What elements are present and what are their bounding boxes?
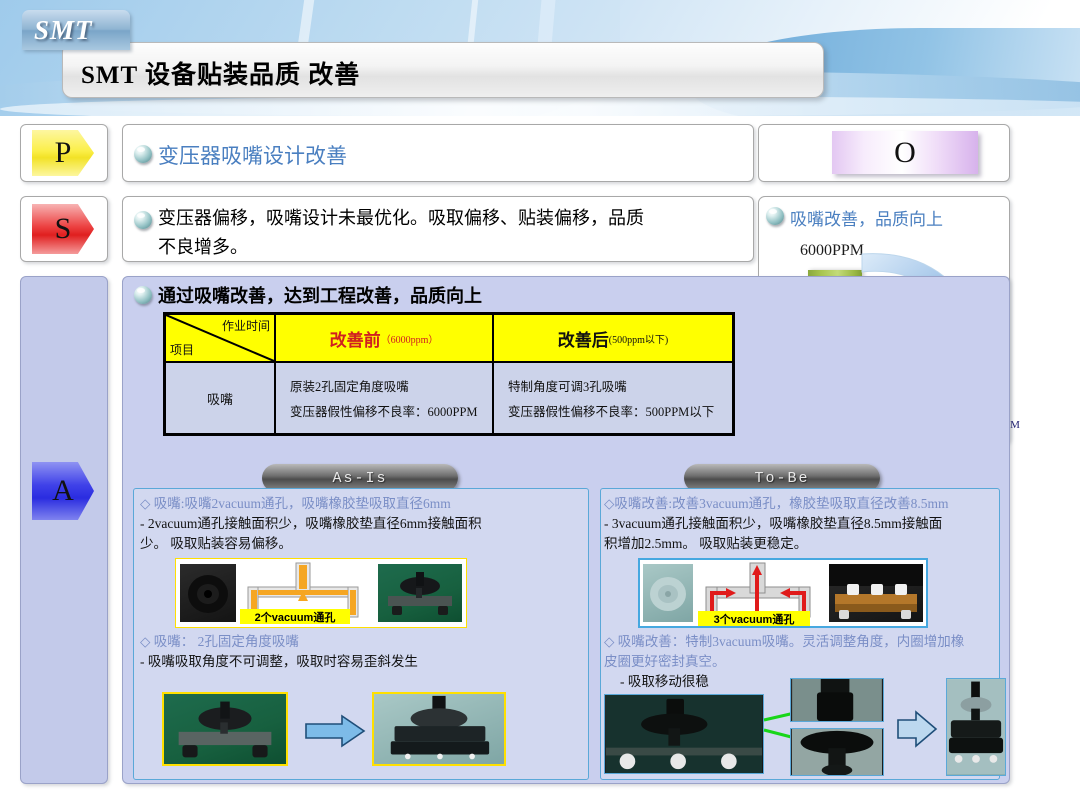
- table-corner-cell: 作业时间 项目: [166, 315, 276, 361]
- transition-arrow-icon: [304, 714, 366, 748]
- as-is-bullet-1-line3: 少。 吸取贴装容易偏移。: [140, 534, 586, 554]
- as-is-figure-strip: 2个vacuum通孔: [175, 558, 467, 628]
- nozzle-assembly-photo-icon: [164, 694, 286, 764]
- table-row-label-cell: 吸嘴: [166, 363, 276, 433]
- table-cell-after-line2: 变压器假性偏移不良率：500PPM以下: [508, 401, 732, 420]
- o-badge-label: O: [894, 136, 916, 170]
- as-is-head-photo: [378, 564, 462, 622]
- smt-corner-tab: SMT: [22, 10, 130, 50]
- marker-label-a: A: [52, 474, 74, 508]
- to-be-vacuum-label: 3个vacuum通孔: [698, 611, 810, 626]
- slide-title-bar: SMT 设备贴装品质 改善: [62, 42, 824, 98]
- nozzle-assembly-alt-photo-icon: [374, 694, 504, 764]
- to-be-feeder-photo: [829, 564, 923, 622]
- table-header-before-sub: （6000ppm）: [381, 331, 439, 346]
- to-be-rubber-pad-photo: [643, 564, 693, 622]
- table-header-before: 改善前 （6000ppm）: [276, 315, 494, 361]
- table-cell-before: 原装2孔固定角度吸嘴 变压器假性偏移不良率：6000PPM: [276, 363, 494, 433]
- to-be-detail-photo-top: [790, 678, 884, 722]
- nozzle-pickup-photo-icon: [605, 695, 763, 773]
- rubber-ring-closeup-icon: [791, 729, 883, 775]
- pickup-head-photo-icon: [378, 564, 462, 622]
- rubber-pad-top-view-icon: [643, 564, 693, 622]
- as-is-bullet-2-line2: - 吸嘴吸取角度不可调整，吸取时容易歪斜发生: [140, 652, 586, 672]
- bullet-sphere-icon: [134, 145, 152, 163]
- problem-line-1: 变压器偏移，吸嘴设计未最优化。吸取偏移、贴装偏移，品质: [158, 204, 742, 233]
- table-cell-before-line2: 变压器假性偏移不良率：6000PPM: [290, 401, 492, 420]
- comparison-table: 作业时间 项目 改善前 （6000ppm） 改善后 (500ppm以下) 吸嘴: [163, 312, 735, 436]
- to-be-pill-label: To-Be: [754, 470, 809, 487]
- nozzle-top-view-icon: [180, 564, 236, 622]
- as-is-bullet-1-line1: ◇ 吸嘴:吸嘴2vacuum通孔，吸嘴橡胶垫吸取直径6mm: [140, 494, 586, 514]
- to-be-bullet-1-line2: - 3vacuum通孔接触面积少，吸嘴橡胶垫直径8.5mm接触面: [604, 514, 998, 534]
- table-cell-before-line1: 原装2孔固定角度吸嘴: [290, 376, 492, 395]
- chart-title: 吸嘴改善，品质向上: [790, 205, 943, 230]
- table-corner-row-label: 项目: [170, 341, 194, 358]
- o-badge: O: [832, 131, 978, 174]
- marker-box-action: [20, 276, 108, 784]
- page-title: SMT 设备贴装品质 改善: [81, 55, 360, 91]
- table-header-after: 改善后 (500ppm以下): [494, 315, 732, 361]
- as-is-vacuum-label: 2个vacuum通孔: [240, 609, 350, 624]
- as-is-nozzle-photo: [180, 564, 236, 622]
- bullet-sphere-icon: [134, 286, 152, 304]
- to-be-bullet-1: ◇吸嘴改善:改善3vacuum通孔，橡胶垫吸取直径改善8.5mm - 3vacu…: [604, 494, 998, 554]
- transition-arrow-icon: [896, 710, 938, 748]
- table-row-label: 吸嘴: [166, 363, 274, 433]
- problem-text: 变压器偏移，吸嘴设计未最优化。吸取偏移、贴装偏移，品质 不良增多。: [158, 204, 742, 262]
- table-header-after-main: 改善后: [558, 326, 609, 351]
- as-is-bullet-2-line1: ◇ 吸嘴： 2孔固定角度吸嘴: [140, 632, 586, 652]
- table-corner-col-label: 作业时间: [222, 317, 270, 334]
- table-header-row: 作业时间 项目 改善前 （6000ppm） 改善后 (500ppm以下): [166, 315, 732, 361]
- as-is-bullet-2: ◇ 吸嘴： 2孔固定角度吸嘴 - 吸嘴吸取角度不可调整，吸取时容易歪斜发生: [140, 632, 586, 672]
- topic-title: 变压器吸嘴设计改善: [158, 140, 347, 170]
- problem-line-2: 不良增多。: [158, 233, 742, 262]
- as-is-pill-label: As-Is: [332, 470, 387, 487]
- table-header-after-sub: (500ppm以下): [609, 331, 668, 346]
- to-be-figure-strip: 3个vacuum通孔: [638, 558, 928, 628]
- feeder-rail-photo-icon: [829, 564, 923, 622]
- to-be-detail-photo-bottom: [790, 728, 884, 776]
- to-be-bullet-1-line1: ◇吸嘴改善:改善3vacuum通孔，橡胶垫吸取直径改善8.5mm: [604, 494, 998, 514]
- improved-nozzle-photo-icon: [947, 679, 1005, 775]
- table-cell-after-line1: 特制角度可调3孔吸嘴: [508, 376, 732, 395]
- to-be-photo-main: [604, 694, 764, 774]
- marker-label-p: P: [55, 136, 72, 170]
- to-be-photo-result: [946, 678, 1006, 776]
- table-cell-after: 特制角度可调3孔吸嘴 变压器假性偏移不良率：500PPM以下: [494, 363, 732, 433]
- as-is-photo-before: [162, 692, 288, 766]
- as-is-bullet-1: ◇ 吸嘴:吸嘴2vacuum通孔，吸嘴橡胶垫吸取直径6mm - 2vacuum通…: [140, 494, 586, 554]
- marker-label-s: S: [55, 212, 72, 246]
- bullet-sphere-icon: [766, 207, 784, 225]
- smt-tab-label: SMT: [34, 15, 93, 46]
- to-be-bullet-1-line3: 积增加2.5mm。 吸取贴装更稳定。: [604, 534, 998, 554]
- bullet-sphere-icon: [134, 211, 152, 229]
- nozzle-shaft-closeup-icon: [791, 679, 883, 721]
- as-is-bullet-1-line2: - 2vacuum通孔接触面积少，吸嘴橡胶垫直径6mm接触面积: [140, 514, 586, 534]
- action-title: 通过吸嘴改善，达到工程改善，品质向上: [158, 282, 482, 308]
- as-is-photo-after: [372, 692, 506, 766]
- to-be-bullet-2-line2: 皮圈更好密封真空。: [604, 652, 1000, 672]
- to-be-bullet-2-line1: ◇ 吸嘴改善：特制3vacuum吸嘴。灵活调整角度，内圈增加橡: [604, 632, 1000, 652]
- table-header-before-main: 改善前: [330, 326, 381, 351]
- table-row: 吸嘴 原装2孔固定角度吸嘴 变压器假性偏移不良率：6000PPM 特制角度可调3…: [166, 361, 732, 433]
